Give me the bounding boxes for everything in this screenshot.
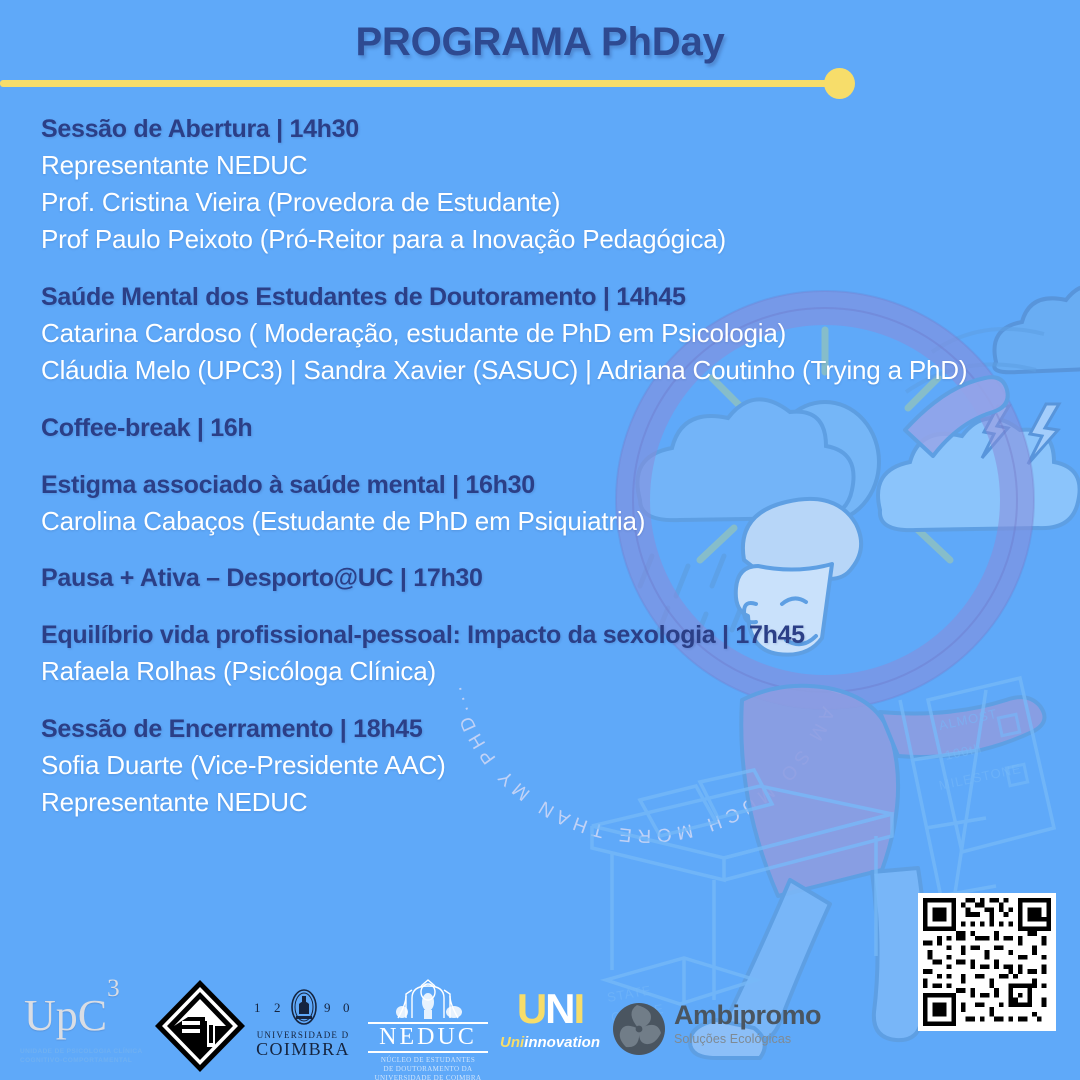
ambipromo-mark-icon	[612, 1002, 666, 1056]
session-heading: Saúde Mental dos Estudantes de Doutorame…	[41, 280, 1041, 315]
neduc-crest-icon	[368, 978, 488, 1022]
ambipromo-subtitle: Soluções Ecológicas	[674, 1032, 821, 1046]
divider-dot-icon	[824, 68, 855, 99]
poster-canvas: I AM SO MUCH MORE THAN MY PHD...	[0, 0, 1080, 1080]
neduc-subtitle-line: NÚCLEO DE ESTUDANTES	[368, 1056, 488, 1065]
uc-year-digit: 1	[254, 1000, 268, 1016]
uni-letter-u: U	[517, 985, 545, 1032]
uc-year: 1 2 9 0	[248, 988, 358, 1028]
programme-item: Sessão de Abertura | 14h30 Representante…	[41, 112, 1041, 258]
logo-upc3: UpC3 UNIDADE DE PSICOLOGIA CLÍNICA COGNI…	[18, 986, 148, 1072]
uc-seal-icon	[290, 988, 318, 1026]
logo-universidade-coimbra: 1 2 9 0 UNIVERSIDADE D COIMBRA	[248, 988, 358, 1068]
upc3-subtitle: UNIDADE DE PSICOLOGIA CLÍNICA COGNITIVO-…	[20, 1048, 148, 1066]
uni-tagline: Uniinnovation	[495, 1034, 605, 1051]
uni-wordmark: UNI	[495, 988, 605, 1030]
logo-neduc: NEDUC NÚCLEO DE ESTUDANTES DE DOUTORAMEN…	[368, 978, 488, 1074]
upc3-wordmark: UpC3	[24, 994, 120, 1038]
session-heading: Sessão de Encerramento | 18h45	[41, 712, 1041, 747]
footer-logos: UpC3 UNIDADE DE PSICOLOGIA CLÍNICA COGNI…	[0, 972, 1080, 1080]
session-detail: Rafaela Rolhas (Psicóloga Clínica)	[41, 653, 1041, 690]
programme-item: Coffee-break | 16h	[41, 411, 1041, 446]
session-detail: Representante NEDUC	[41, 784, 1041, 821]
session-detail: Representante NEDUC	[41, 147, 1041, 184]
session-detail: Catarina Cardoso ( Moderação, estudante …	[41, 315, 1041, 352]
uc-year-digit: 2	[274, 1000, 288, 1016]
programme-item: Pausa + Ativa – Desporto@UC | 17h30	[41, 561, 1041, 596]
logo-ambipromo: Ambipromo Soluções Ecológicas	[612, 998, 822, 1062]
session-detail: Prof. Cristina Vieira (Provedora de Estu…	[41, 184, 1041, 221]
session-heading: Coffee-break | 16h	[41, 411, 1041, 446]
programme-item: Equilíbrio vida profissional-pessoal: Im…	[41, 618, 1041, 690]
title-divider	[0, 74, 1080, 102]
session-heading: Sessão de Abertura | 14h30	[41, 112, 1041, 147]
session-heading: Equilíbrio vida profissional-pessoal: Im…	[41, 618, 1041, 653]
programme-list: Sessão de Abertura | 14h30 Representante…	[41, 112, 1041, 821]
session-heading: Pausa + Ativa – Desporto@UC | 17h30	[41, 561, 1041, 596]
page-title: PROGRAMA PhDay	[0, 20, 1080, 65]
logo-uni: UNI Uniinnovation	[495, 988, 605, 1066]
logo-aac	[152, 977, 248, 1075]
session-detail: Sofia Duarte (Vice-Presidente AAC)	[41, 747, 1041, 784]
session-heading: Estigma associado à saúde mental | 16h30	[41, 468, 1041, 503]
neduc-subtitle: NÚCLEO DE ESTUDANTES DE DOUTORAMENTO DA …	[368, 1056, 488, 1080]
session-detail: Carolina Cabaços (Estudante de PhD em Ps…	[41, 503, 1041, 540]
uc-year-digit: 0	[343, 1000, 357, 1016]
programme-item: Sessão de Encerramento | 18h45 Sofia Dua…	[41, 712, 1041, 821]
programme-item: Estigma associado à saúde mental | 16h30…	[41, 468, 1041, 540]
upc3-name: UpC	[24, 991, 107, 1040]
neduc-wordmark: NEDUC	[368, 1022, 488, 1053]
ambipromo-text: Ambipromo Soluções Ecológicas	[674, 1002, 821, 1046]
upc3-superscript: 3	[107, 975, 120, 1002]
uc-year-digit: 9	[324, 1000, 338, 1016]
programme-item: Saúde Mental dos Estudantes de Doutorame…	[41, 280, 1041, 389]
neduc-subtitle-line: UNIVERSIDADE DE COIMBRA	[368, 1074, 488, 1080]
uni-letter-n: N	[545, 985, 573, 1032]
divider-line	[0, 80, 840, 87]
neduc-subtitle-line: DE DOUTORAMENTO DA	[368, 1065, 488, 1074]
session-detail: Prof Paulo Peixoto (Pró-Reitor para a In…	[41, 221, 1041, 258]
uni-tagline-b: innovation	[524, 1034, 600, 1051]
uni-tagline-a: Uni	[500, 1034, 524, 1051]
ambipromo-name: Ambipromo	[674, 1002, 821, 1029]
session-detail: Cláudia Melo (UPC3) | Sandra Xavier (SAS…	[41, 352, 1041, 389]
uc-name-bottom: COIMBRA	[248, 1040, 358, 1060]
uni-letter-i: I	[574, 985, 584, 1032]
